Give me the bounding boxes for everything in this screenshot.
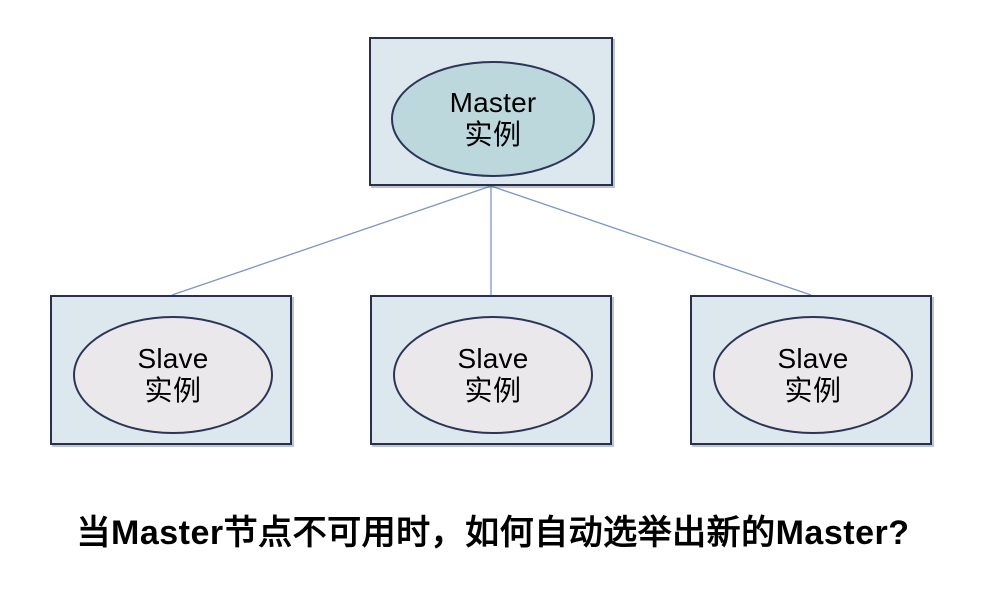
diagram-canvas: Master 实例 Slave 实例 Slave 实例 Slave 实例 当Ma… (0, 0, 986, 590)
master-label-cn: 实例 (464, 119, 521, 151)
edge-master-to-slave-3 (491, 186, 811, 295)
slave-3-ellipse[interactable]: Slave 实例 (713, 316, 913, 434)
slave-3-label-cn: 实例 (784, 375, 841, 407)
slave-3-label-en: Slave (777, 343, 848, 375)
slave-2-ellipse[interactable]: Slave 实例 (393, 316, 593, 434)
node-slave-3[interactable]: Slave 实例 (690, 295, 932, 445)
node-slave-2[interactable]: Slave 实例 (370, 295, 612, 445)
slave-1-label-en: Slave (137, 343, 208, 375)
node-slave-1[interactable]: Slave 实例 (50, 295, 292, 445)
node-master[interactable]: Master 实例 (369, 37, 613, 186)
master-label-en: Master (450, 87, 537, 119)
master-ellipse[interactable]: Master 实例 (391, 61, 595, 177)
edge-master-to-slave-1 (172, 186, 491, 295)
slave-1-label-cn: 实例 (144, 375, 201, 407)
slave-2-label-en: Slave (457, 343, 528, 375)
diagram-caption: 当Master节点不可用时，如何自动选举出新的Master? (0, 505, 986, 554)
slave-1-ellipse[interactable]: Slave 实例 (73, 316, 273, 434)
slave-2-label-cn: 实例 (464, 375, 521, 407)
